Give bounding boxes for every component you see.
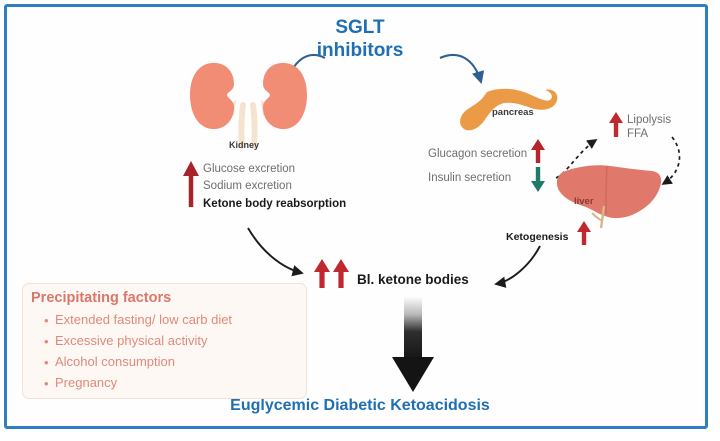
kidney-effect-ketone-reabsorption: Ketone body reabsorption xyxy=(203,198,346,210)
precipitating-factor-item: Alcohol consumption xyxy=(55,354,175,369)
kidney-to-ketones-arrow xyxy=(248,228,302,273)
liver-organ-icon xyxy=(557,165,661,228)
figure-canvas: SGLT inhibitors Kidney Glucose excretion… xyxy=(0,0,720,441)
pancreas-organ-label: pancreas xyxy=(492,107,534,118)
outcome-gradient-arrow-icon xyxy=(392,296,434,392)
bullet-icon: • xyxy=(44,355,49,370)
lipolysis-line-1: Lipolysis xyxy=(627,114,671,126)
precipitating-factor-item: Extended fasting/ low carb diet xyxy=(55,312,232,327)
ketogenesis-to-ketones-arrow xyxy=(496,246,540,284)
ketogenesis-up-arrow-icon xyxy=(577,221,591,245)
kidney-organ-label: Kidney xyxy=(229,140,259,150)
glucagon-secretion-label: Glucagon secretion xyxy=(428,148,527,160)
lipolysis-up-arrow-icon xyxy=(609,112,623,137)
page-title: SGLT inhibitors xyxy=(0,16,720,62)
title-line-2: inhibitors xyxy=(0,39,720,62)
insulin-down-arrow-icon xyxy=(531,167,545,192)
insulin-secretion-label: Insulin secretion xyxy=(428,172,511,184)
precipitating-factor-item: Pregnancy xyxy=(55,375,117,390)
blood-ketone-bodies-label: Bl. ketone bodies xyxy=(357,272,469,287)
precipitating-factors-title: Precipitating factors xyxy=(31,290,171,306)
liver-organ-label: liver xyxy=(574,196,594,207)
glucagon-up-arrow-icon xyxy=(531,139,545,163)
kidney-up-arrow-icon xyxy=(183,161,199,207)
ffa-line: FFA xyxy=(627,128,648,140)
ketogenesis-label: Ketogenesis xyxy=(506,231,568,243)
kidney-effect-sodium: Sodium excretion xyxy=(203,180,292,192)
lipolysis-label: Lipolysis FFA xyxy=(627,113,697,141)
bullet-icon: • xyxy=(44,376,49,391)
title-line-1: SGLT xyxy=(0,16,720,39)
kidney-effect-glucose: Glucose excretion xyxy=(203,163,295,175)
ketones-double-up-arrow-icon xyxy=(314,259,349,288)
bullet-icon: • xyxy=(44,334,49,349)
kidney-organ-icon xyxy=(190,63,307,146)
outcome-label: Euglycemic Diabetic Ketoacidosis xyxy=(0,397,720,415)
bullet-icon: • xyxy=(44,313,49,328)
dotted-arrow-to-liver xyxy=(663,137,679,184)
precipitating-factor-item: Excessive physical activity xyxy=(55,333,207,348)
